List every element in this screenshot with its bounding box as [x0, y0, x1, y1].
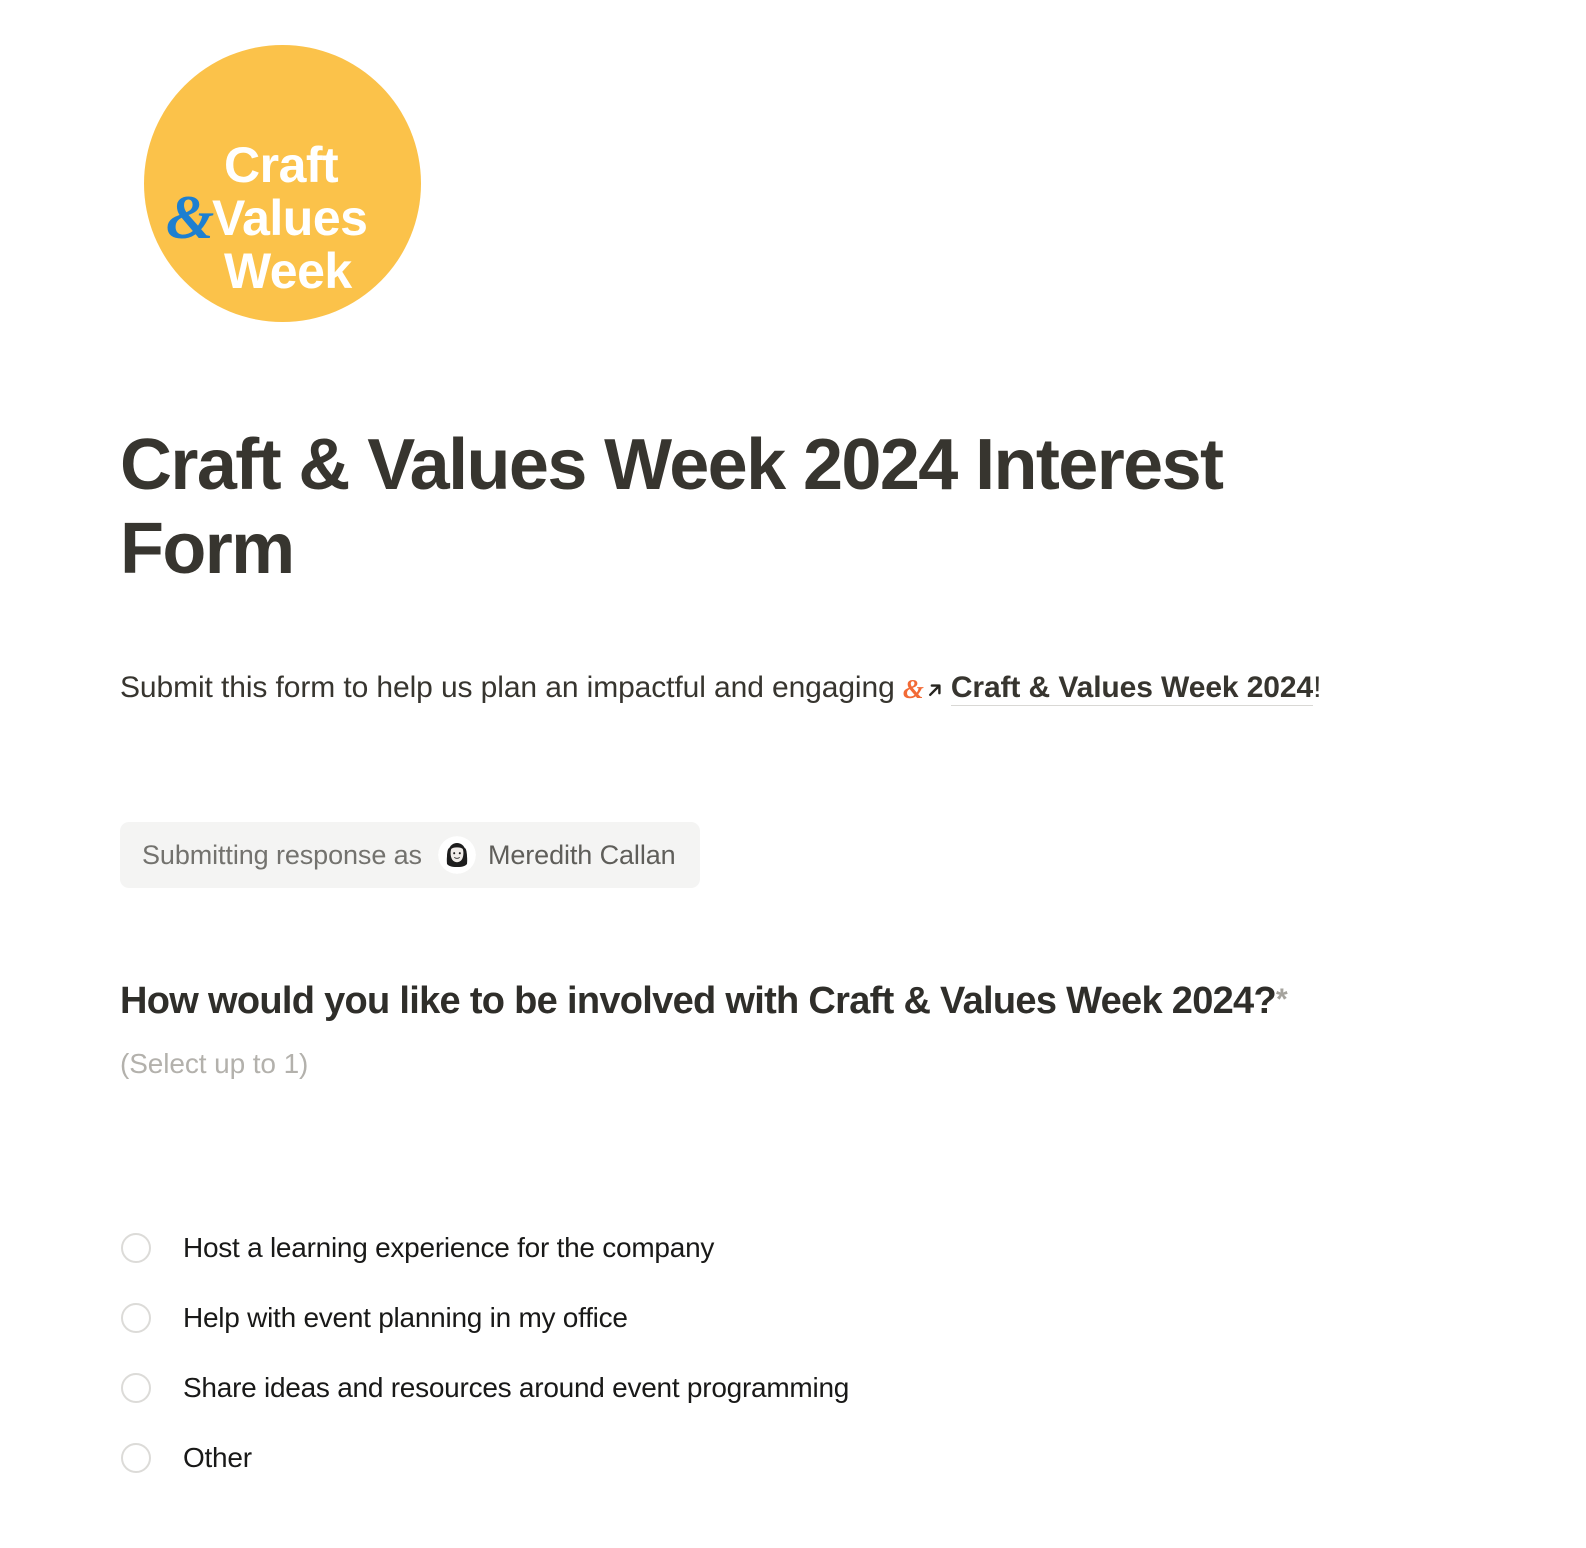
description-text-before-link: Submit this form to help us plan an impa…	[120, 671, 903, 704]
radio-icon-1[interactable]	[121, 1303, 151, 1333]
form-logo: & Craft Values Week	[144, 45, 421, 322]
link-favicon-icon: &	[903, 676, 924, 703]
form-description: Submit this form to help us plan an impa…	[120, 664, 1380, 713]
option-label-2: Share ideas and resources around event p…	[183, 1371, 849, 1405]
form-page: & Craft Values Week Craft & Values Week …	[0, 0, 1586, 1548]
option-row-1[interactable]: Help with event planning in my office	[120, 1283, 1320, 1353]
question-hint: (Select up to 1)	[120, 1048, 1440, 1080]
submitting-response-as-chip: Submitting response as Meredith Callan	[120, 822, 700, 888]
question-block: How would you like to be involved with C…	[120, 976, 1440, 1080]
craft-values-week-link[interactable]: Craft & Values Week 2024	[951, 671, 1313, 706]
option-row-2[interactable]: Share ideas and resources around event p…	[120, 1353, 1320, 1423]
options-list: Host a learning experience for the compa…	[120, 1213, 1320, 1493]
description-text-after-link: !	[1313, 671, 1321, 704]
option-label-1: Help with event planning in my office	[183, 1301, 628, 1335]
logo-text: & Craft Values Week	[144, 45, 421, 322]
submitting-user-name: Meredith Callan	[488, 840, 676, 871]
radio-icon-3[interactable]	[121, 1443, 151, 1473]
option-label-3: Other	[183, 1441, 252, 1475]
external-link-arrow-icon	[925, 667, 945, 687]
question-title-text: How would you like to be involved with C…	[120, 980, 1276, 1022]
logo-ampersand-icon: &	[166, 187, 214, 249]
radio-icon-0[interactable]	[121, 1233, 151, 1263]
question-title: How would you like to be involved with C…	[120, 976, 1440, 1026]
logo-line-craft: Craft	[224, 140, 338, 190]
logo-line-values: Values	[212, 193, 367, 243]
page-title: Craft & Values Week 2024 Interest Form	[120, 424, 1360, 591]
radio-icon-2[interactable]	[121, 1373, 151, 1403]
logo-line-week: Week	[224, 246, 352, 296]
logo-circle: & Craft Values Week	[144, 45, 421, 322]
user-avatar	[438, 836, 476, 874]
required-asterisk: *	[1276, 983, 1287, 1016]
option-row-3[interactable]: Other	[120, 1423, 1320, 1493]
submitting-response-as-label: Submitting response as	[142, 840, 422, 871]
option-row-0[interactable]: Host a learning experience for the compa…	[120, 1213, 1320, 1283]
option-label-0: Host a learning experience for the compa…	[183, 1231, 714, 1265]
